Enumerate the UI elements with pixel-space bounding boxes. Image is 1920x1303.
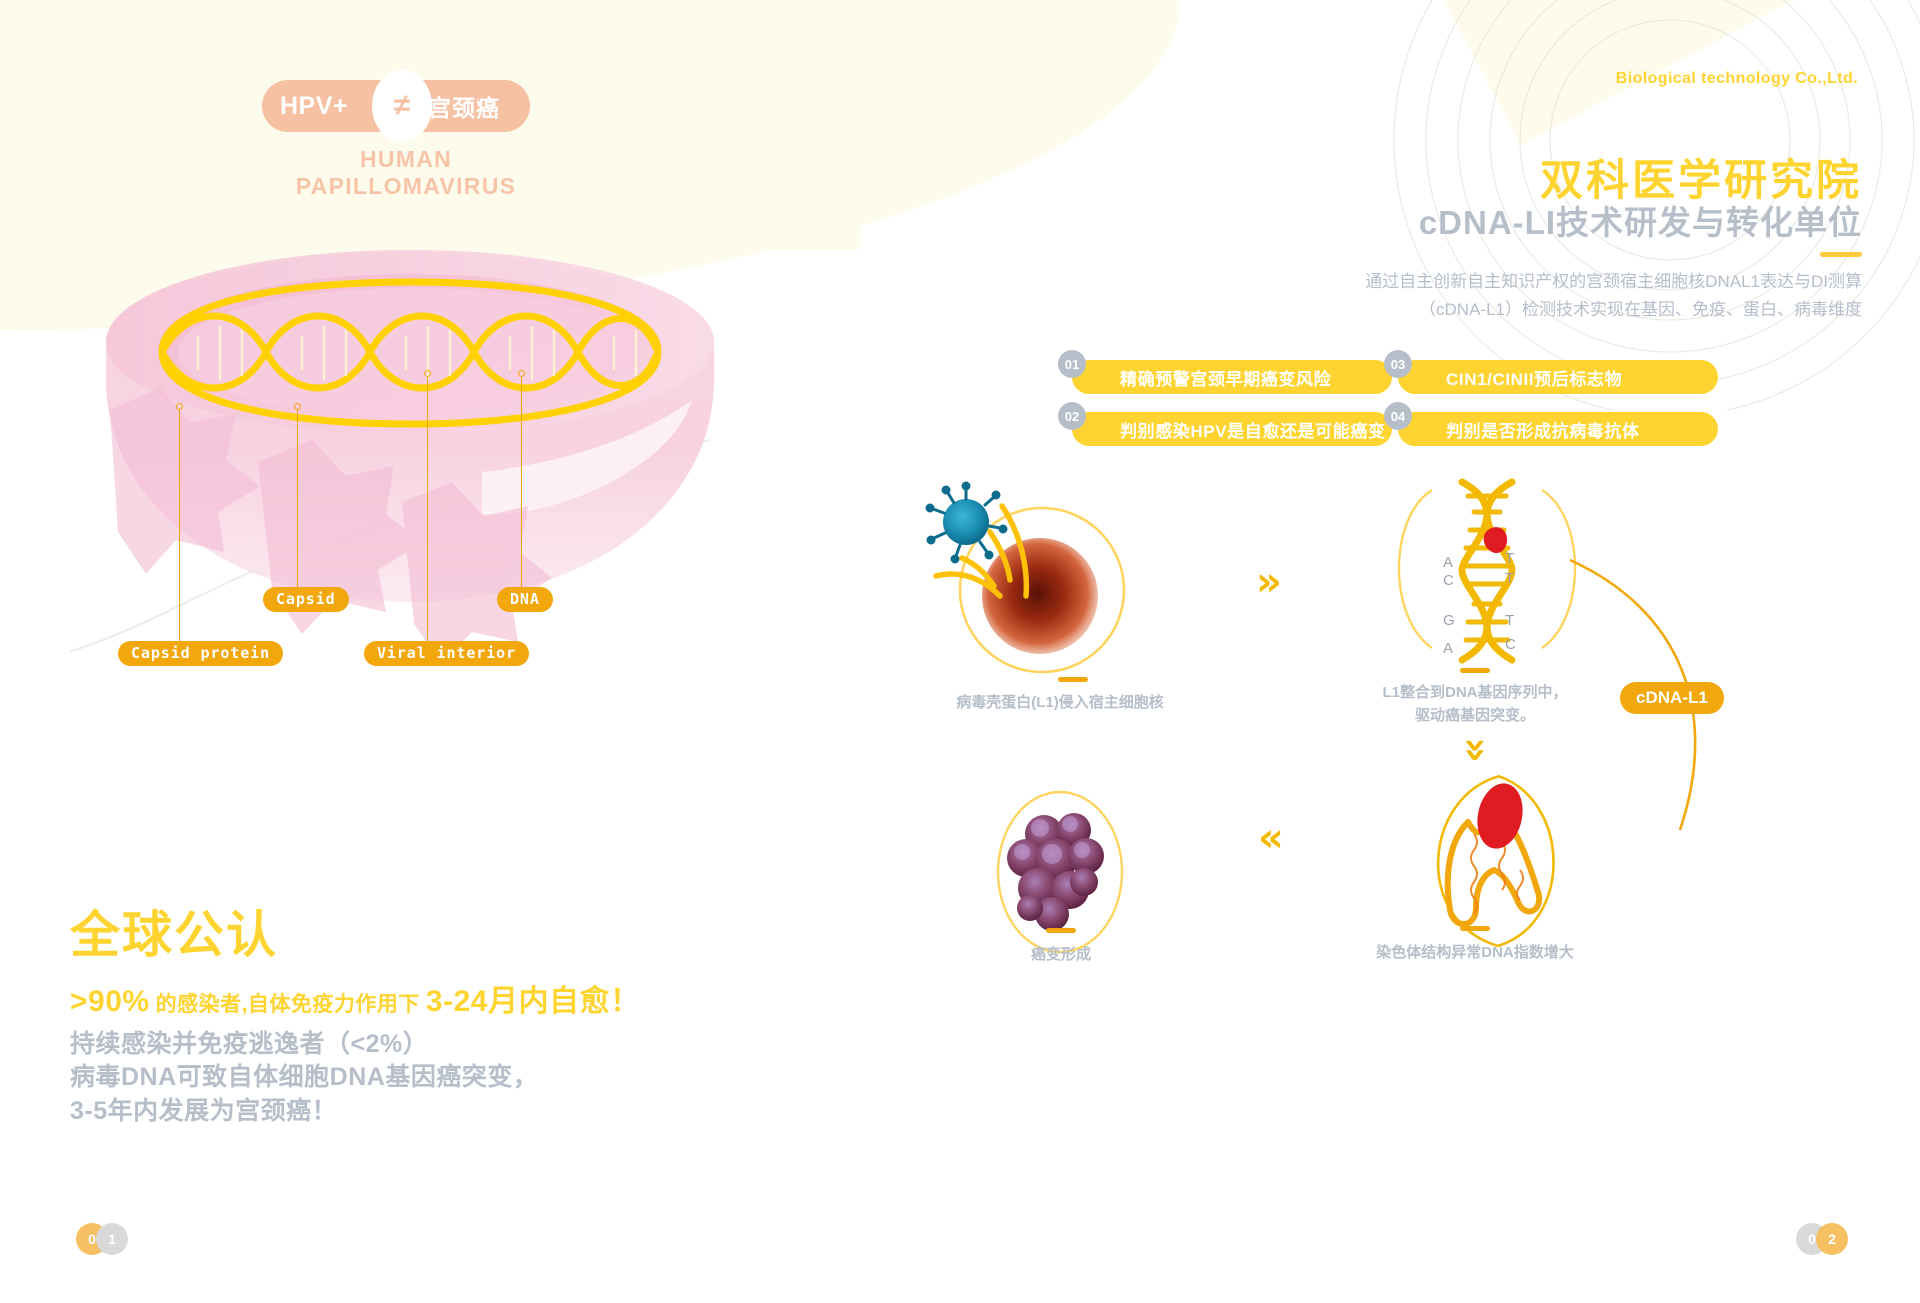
left-panel: HPV+ ≠ 宫颈癌 HUMAN PAPILLOMAVIRUS [0,0,1000,1303]
leader-line-capsid [297,410,298,590]
dna-base-right-2: T [1505,612,1514,629]
callout-capsid: Capsid [263,587,349,612]
step3-chromosome-illustration [1372,770,1612,960]
arrow-down-icon: » [1456,737,1496,763]
institute-description-line-1: 通过自主创新自主知识产权的宫颈宿主细胞核DNAL1表达与DI测算 [1302,268,1862,296]
note-line-3: 3-5年内发展为宫颈癌！ [70,1095,538,1128]
cdna-l1-label: cDNA-L1 [1620,682,1724,714]
arrow-left-icon: « [1258,818,1284,858]
step4-tumour-illustration [940,772,1180,972]
not-equal-icon: ≠ [372,70,432,142]
leader-dot-capsid [294,403,301,410]
self-healing-stat: >90%的感染者,自体免疫力作用下3-24月内自愈！ [70,976,640,1020]
stat-duration: 3-24月内自愈！ [426,985,641,1018]
dna-base-left-1: C [1443,572,1454,589]
note-line-2: 病毒DNA可致自体细胞DNA基因癌突变， [70,1061,538,1094]
page-number-right-second: 2 [1816,1223,1848,1255]
step1-virus-cell-illustration [890,470,1170,700]
dna-base-left-3: A [1443,640,1453,657]
feature-number-02: 02 [1058,402,1086,430]
step1-caption: 病毒壳蛋白(L1)侵入宿主细胞核 [865,692,1255,715]
page-number-right: 0 2 [1782,1223,1862,1255]
page-number-left-second: 1 [96,1223,128,1255]
hpv-badge-right-label: 宫颈癌 [428,80,500,132]
leader-line-dna [521,377,522,591]
feature-bar-04: 判别是否形成抗病毒抗体 [1398,412,1718,446]
callout-viral-interior: Viral interior [364,641,529,666]
hpv-subtitle: HUMAN PAPILLOMAVIRUS [246,146,566,200]
feature-number-03: 03 [1384,350,1412,378]
feature-label-02: 判别感染HPV是自愈还是可能癌变 [1072,417,1386,442]
note-line-1: 持续感染并免疫逃逸者（<2%） [70,1028,538,1061]
leader-dot-viral-interior [424,370,431,377]
step4-caption-dash [1046,928,1076,933]
feature-bar-03: CIN1/CINII预后标志物 [1398,360,1718,394]
step1-caption-dash [1058,677,1088,682]
leader-dot-dna [518,370,525,377]
step3-caption: 染色体结构异常DNA指数增大 [1330,942,1620,965]
stat-middle-text: 的感染者,自体免疫力作用下 [150,993,426,1016]
step3-caption-dash [1460,926,1490,931]
institute-subtitle: cDNA-LI技术研发与转化单位 [1419,196,1862,244]
leader-line-viral-interior [427,377,428,645]
right-panel: Biological technology Co.,Ltd. 双科医学研究院 c… [1000,0,1920,1303]
dna-base-right-0: T [1505,550,1514,567]
page-number-left: 0 1 [62,1223,142,1255]
feature-number-01: 01 [1058,350,1086,378]
persistent-infection-notes: 持续感染并免疫逃逸者（<2%） 病毒DNA可致自体细胞DNA基因癌突变， 3-5… [70,1028,538,1128]
leader-line-capsid-protein [179,410,180,645]
hpv-badge-left-label: HPV+ [280,80,348,132]
hpv-badge: HPV+ ≠ 宫颈癌 [262,80,530,132]
callout-capsid-protein: Capsid protein [118,641,283,666]
leader-dot-capsid-protein [176,403,183,410]
feature-label-03: CIN1/CINII预后标志物 [1398,365,1622,390]
feature-bar-01: 精确预警宫颈早期癌变风险 [1072,360,1392,394]
infographic-page: HPV+ ≠ 宫颈癌 HUMAN PAPILLOMAVIRUS [0,0,1920,1303]
feature-bar-02: 判别感染HPV是自愈还是可能癌变 [1072,412,1392,446]
institute-description: 通过自主创新自主知识产权的宫颈宿主细胞核DNAL1表达与DI测算 （cDNA-L… [1302,268,1862,324]
company-english-name: Biological technology Co.,Ltd. [1616,70,1858,88]
stat-percent: >90% [70,985,150,1018]
process-diagram: 病毒壳蛋白(L1)侵入宿主细胞核 » [1000,470,1920,950]
dna-base-right-1: T [1505,570,1514,587]
step2-caption-dash [1460,668,1490,673]
dna-base-left-2: G [1443,612,1455,629]
virus-illustration [70,230,750,650]
feature-number-04: 04 [1384,402,1412,430]
arrow-right-icon: » [1256,562,1282,602]
title-divider [1820,252,1862,257]
dna-base-right-3: C [1505,636,1516,653]
feature-label-01: 精确预警宫颈早期癌变风险 [1072,365,1331,390]
global-consensus-title: 全球公认 [70,895,278,967]
feature-label-04: 判别是否形成抗病毒抗体 [1398,417,1640,442]
dna-base-left-0: A [1443,554,1453,571]
callout-dna: DNA [497,587,553,612]
institute-description-line-2: （cDNA-L1）检测技术实现在基因、免疫、蛋白、病毒维度 [1302,296,1862,324]
step4-caption: 癌变形成 [916,944,1206,967]
